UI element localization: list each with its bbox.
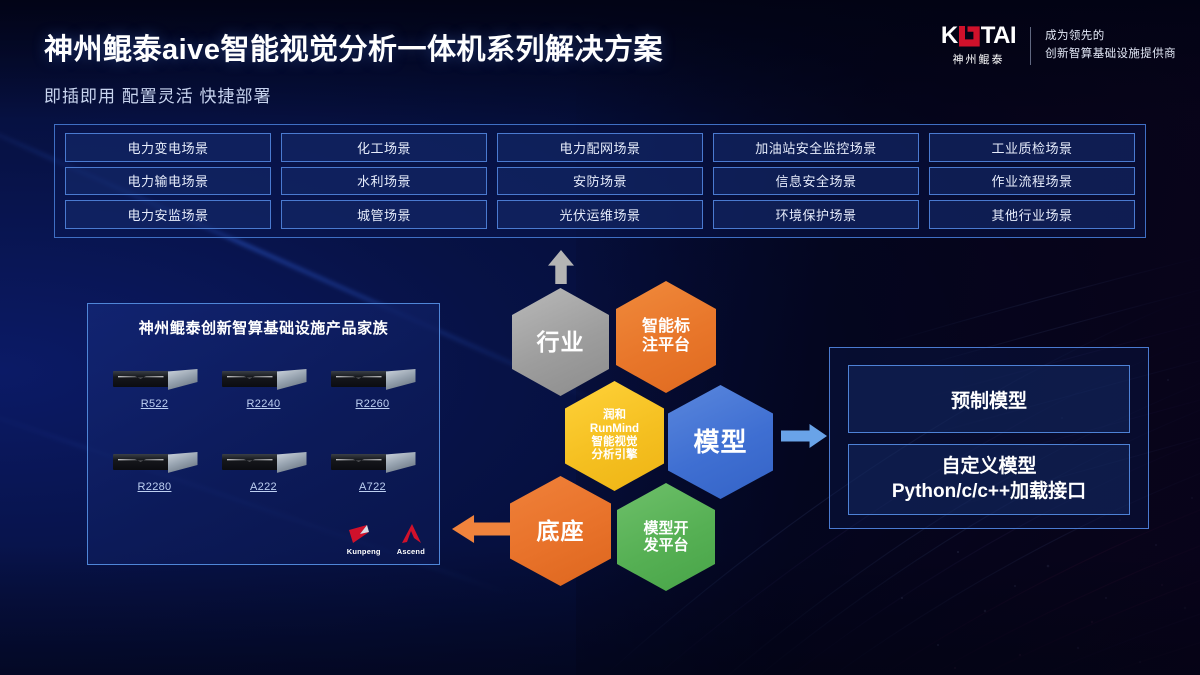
hex-model-dev-platform[interactable]: 模型开 发平台 [617,483,715,591]
product-item[interactable]: A722 [320,433,425,512]
scenario-box[interactable]: 环境保护场景 [713,200,919,229]
ascend-logo-icon [398,523,424,545]
server-icon [331,369,415,388]
model-custom-line2: Python/c/c++加载接口 [892,480,1086,505]
logo-tagline-line1: 成为领先的 [1045,28,1176,46]
product-item[interactable]: R2240 [211,350,316,429]
hex-engine-line3: 智能视觉 [592,436,638,449]
server-icon [113,452,197,471]
partner-ascend: Ascend [397,523,425,556]
scenario-box[interactable]: 电力安监场景 [65,200,271,229]
scenario-panel: 电力变电场景 化工场景 电力配网场景 加油站安全监控场景 工业质检场景 电力输电… [54,124,1146,238]
hex-model[interactable]: 模型 [668,385,773,499]
page-title: 神州鲲泰aive智能视觉分析一体机系列解决方案 [44,26,663,68]
hex-annotation-platform-line1: 智能标 [642,318,690,337]
scenario-box[interactable]: 电力变电场景 [65,133,271,162]
server-icon [331,452,415,471]
hex-dev-line2: 发平台 [643,537,688,554]
scenario-box[interactable]: 工业质检场景 [929,133,1135,162]
model-custom-line1: 自定义模型 [941,455,1036,480]
product-label: A722 [359,481,386,493]
partner-logos: Kunpeng Ascend [347,523,425,556]
product-item[interactable]: R522 [102,350,207,429]
hex-base-line: 底座 [537,518,585,545]
model-custom-box[interactable]: 自定义模型 Python/c/c++加载接口 [848,444,1130,515]
scenario-box[interactable]: 水利场景 [281,167,487,196]
kunpeng-logo-icon [347,523,381,545]
hexagon-cluster: 行业 智能标 注平台 润和 RunMind 智能视觉 分析引擎 模型 底座 模型… [500,278,800,580]
logo-tagline: 成为领先的 创新智算基础设施提供商 [1045,28,1176,64]
logo-tagline-line2: 创新智算基础设施提供商 [1045,46,1176,64]
scenario-box[interactable]: 作业流程场景 [929,167,1135,196]
page-subtitle: 即插即用 配置灵活 快捷部署 [44,82,663,107]
brand-logo: K TAI 神州鲲泰 成为领先的 创新智算基础设施提供商 [941,24,1176,67]
product-label: A222 [250,481,277,493]
hex-base[interactable]: 底座 [510,476,611,586]
logo-divider [1030,27,1031,65]
scenario-box[interactable]: 安防场景 [497,167,703,196]
server-icon [222,452,306,471]
partner-kunpeng: Kunpeng [347,523,381,556]
hex-industry[interactable]: 行业 [512,288,609,396]
hex-annotation-platform[interactable]: 智能标 注平台 [616,281,716,393]
server-icon [222,369,306,388]
product-label: R522 [141,398,169,410]
scenario-box[interactable]: 信息安全场景 [713,167,919,196]
partner-name: Kunpeng [347,547,381,556]
model-preset-label: 预制模型 [951,386,1027,413]
hex-engine-line4: 分析引擎 [592,449,638,462]
logo-letter-k: K [941,24,958,48]
scenario-box[interactable]: 其他行业场景 [929,200,1135,229]
product-grid: R522 R2240 R2260 R2280 A222 A722 [102,350,425,512]
partner-name: Ascend [397,547,425,556]
scenario-box[interactable]: 光伏运维场景 [497,200,703,229]
hex-model-line: 模型 [693,427,747,457]
hex-industry-line: 行业 [537,329,585,356]
hex-annotation-platform-line2: 注平台 [642,337,690,356]
slide-header: 神州鲲泰aive智能视觉分析一体机系列解决方案 即插即用 配置灵活 快捷部署 [44,26,663,107]
logo-lockup: K TAI 神州鲲泰 [941,24,1016,67]
product-label: R2240 [247,398,281,410]
product-family-title: 神州鲲泰创新智算基础设施产品家族 [88,317,439,338]
kuntai-u-mark-icon [959,26,980,47]
logo-company-cn: 神州鲲泰 [952,51,1004,67]
product-label: R2280 [138,481,172,493]
scenario-grid: 电力变电场景 化工场景 电力配网场景 加油站安全监控场景 工业质检场景 电力输电… [65,133,1135,229]
scenario-box[interactable]: 电力配网场景 [497,133,703,162]
logo-letters-tai: TAI [981,24,1016,48]
server-icon [113,369,197,388]
product-label: R2260 [356,398,390,410]
logo-wordmark: K TAI [941,24,1016,48]
scenario-box[interactable]: 城管场景 [281,200,487,229]
product-item[interactable]: R2260 [320,350,425,429]
hex-runmind-engine[interactable]: 润和 RunMind 智能视觉 分析引擎 [565,381,664,491]
model-panel: 预制模型 自定义模型 Python/c/c++加载接口 [829,347,1149,529]
scenario-box[interactable]: 电力输电场景 [65,167,271,196]
scenario-box[interactable]: 加油站安全监控场景 [713,133,919,162]
hex-dev-line1: 模型开 [643,520,688,537]
product-item[interactable]: A222 [211,433,316,512]
product-item[interactable]: R2280 [102,433,207,512]
scenario-box[interactable]: 化工场景 [281,133,487,162]
hex-engine-line1: 润和 [603,409,626,422]
hex-engine-line2: RunMind [590,423,639,436]
model-preset-box[interactable]: 预制模型 [848,365,1130,433]
product-family-panel: 神州鲲泰创新智算基础设施产品家族 R522 R2240 R2260 R2280 … [87,303,440,565]
